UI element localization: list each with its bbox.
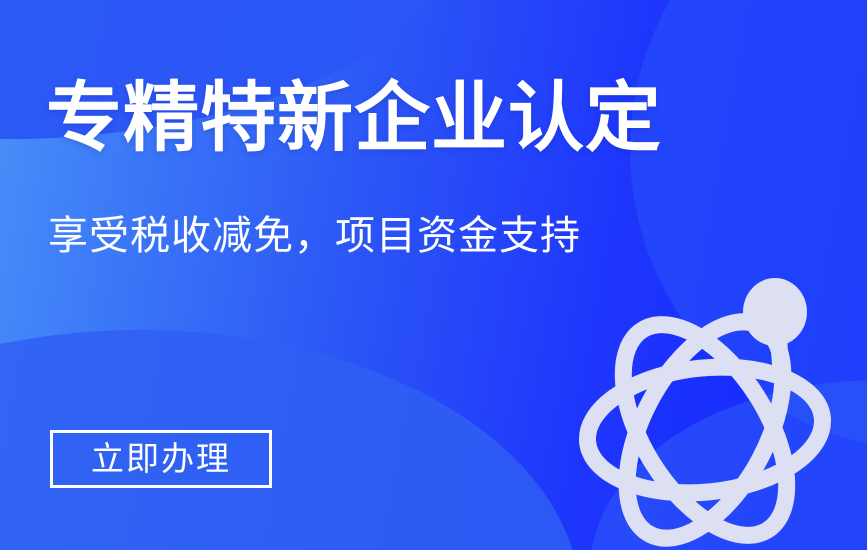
page-title: 专精特新企业认定: [46, 78, 662, 160]
page-subtitle: 享受税收减免，项目资金支持: [48, 212, 581, 260]
apply-now-button[interactable]: 立即办理: [50, 430, 272, 488]
promo-banner: 专精特新企业认定 享受税收减免，项目资金支持 立即办理: [0, 0, 867, 550]
